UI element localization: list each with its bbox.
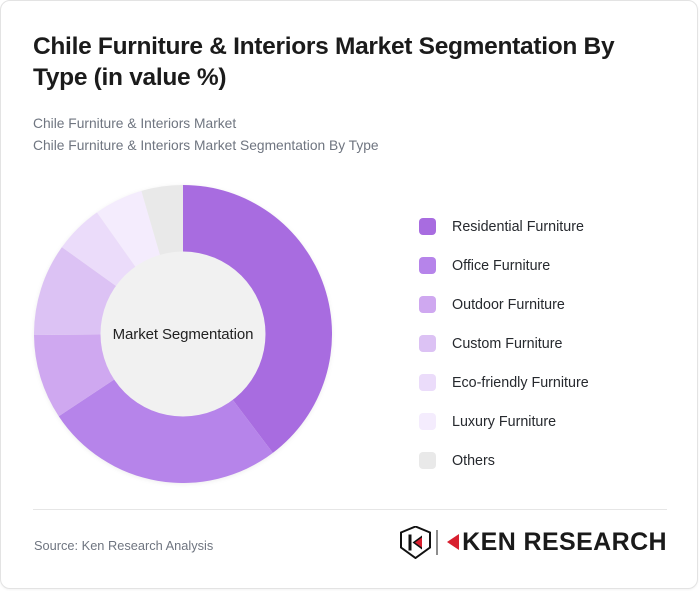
legend-label: Residential Furniture xyxy=(452,219,584,235)
legend-swatch-icon xyxy=(419,218,436,235)
legend-item[interactable]: Office Furniture xyxy=(419,246,669,285)
logo-text: KEN RESEARCH xyxy=(462,530,667,555)
donut-chart: Market Segmentation xyxy=(34,185,332,483)
donut-hole xyxy=(101,252,266,417)
legend-label: Others xyxy=(452,453,495,469)
legend-item[interactable]: Eco-friendly Furniture xyxy=(419,363,669,402)
page-title: Chile Furniture & Interiors Market Segme… xyxy=(33,31,653,94)
legend-swatch-icon xyxy=(419,452,436,469)
legend-label: Eco-friendly Furniture xyxy=(452,375,589,391)
subtitle-market: Chile Furniture & Interiors Market xyxy=(33,113,653,135)
source-note: Source: Ken Research Analysis xyxy=(34,538,213,553)
donut-chart-svg xyxy=(34,185,332,483)
brand-logo: KEN RESEARCH xyxy=(400,525,667,559)
legend-label: Office Furniture xyxy=(452,258,550,274)
footer-divider xyxy=(33,509,667,510)
logo-separator xyxy=(436,530,438,555)
legend-swatch-icon xyxy=(419,257,436,274)
legend-swatch-icon xyxy=(419,296,436,313)
legend-item[interactable]: Residential Furniture xyxy=(419,207,669,246)
legend-swatch-icon xyxy=(419,335,436,352)
subtitle-segmentation: Chile Furniture & Interiors Market Segme… xyxy=(33,135,653,157)
legend-label: Luxury Furniture xyxy=(452,414,556,430)
logo-wordmark: KEN RESEARCH xyxy=(445,530,667,555)
legend-swatch-icon xyxy=(419,374,436,391)
chart-legend: Residential FurnitureOffice FurnitureOut… xyxy=(419,207,669,480)
legend-item[interactable]: Luxury Furniture xyxy=(419,402,669,441)
legend-item[interactable]: Custom Furniture xyxy=(419,324,669,363)
legend-label: Custom Furniture xyxy=(452,336,562,352)
legend-item[interactable]: Outdoor Furniture xyxy=(419,285,669,324)
logo-red-triangle-icon xyxy=(445,531,461,553)
chart-card: Chile Furniture & Interiors Market Segme… xyxy=(0,0,698,589)
legend-swatch-icon xyxy=(419,413,436,430)
legend-label: Outdoor Furniture xyxy=(452,297,565,313)
legend-item[interactable]: Others xyxy=(419,441,669,480)
ken-research-k-mark-icon xyxy=(400,526,431,559)
subtitle-block: Chile Furniture & Interiors Market Chile… xyxy=(33,113,653,157)
